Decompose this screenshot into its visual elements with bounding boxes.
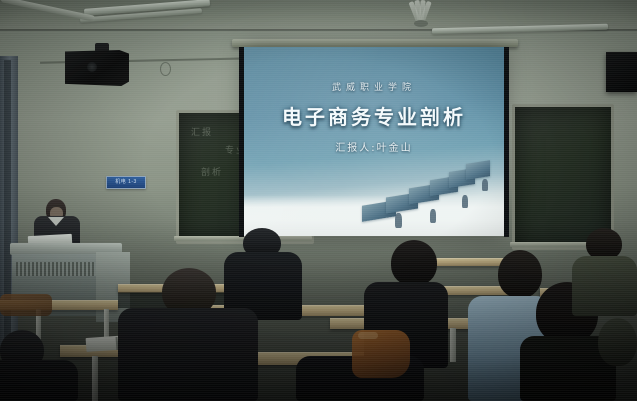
bag-on-desk <box>0 294 52 316</box>
chalk-note: 剖析 <box>201 165 223 178</box>
wall-hook-icon <box>160 62 171 76</box>
audience-member-rear-right <box>598 318 637 366</box>
classroom-scene: 汇报 专业 剖析 机电 1-3 <box>0 0 637 401</box>
ceiling-fan-icon <box>392 0 454 26</box>
wall-speaker-left <box>65 50 129 86</box>
wall-room-sign-label: 机电 1-3 <box>107 178 145 185</box>
handbag-strap <box>358 332 378 339</box>
chalk-note: 汇报 <box>191 125 213 138</box>
projection-screen: 武威职业学院 电子商务专业剖析 汇报人:叶金山 <box>244 47 504 236</box>
projection-screen-roller <box>232 39 518 47</box>
slide-organization-text: 武威职业学院 <box>244 80 504 93</box>
powerpoint-title-slide: 武威职业学院 电子商务专业剖析 汇报人:叶金山 <box>244 47 504 236</box>
slide-presenter-text: 汇报人:叶金山 <box>244 139 504 154</box>
wall-speaker-right <box>606 52 637 92</box>
speaker-cone-icon <box>87 62 97 72</box>
desk-leg <box>450 328 456 362</box>
projection-screen-edge-right <box>504 47 509 237</box>
audience-member-right-dark <box>391 240 437 286</box>
wall-room-sign: 机电 1-3 <box>106 176 146 189</box>
audience-member-center-front-torso <box>118 308 258 401</box>
desk-leg <box>92 356 98 401</box>
audience-member-blue-shirt-head <box>498 250 542 298</box>
slide-title-text: 电子商务专业剖析 <box>244 101 504 130</box>
audience-member-left-front-torso <box>0 360 78 401</box>
audience-member-far-right-torso <box>572 256 637 316</box>
lectern-vent-panel <box>16 262 104 276</box>
